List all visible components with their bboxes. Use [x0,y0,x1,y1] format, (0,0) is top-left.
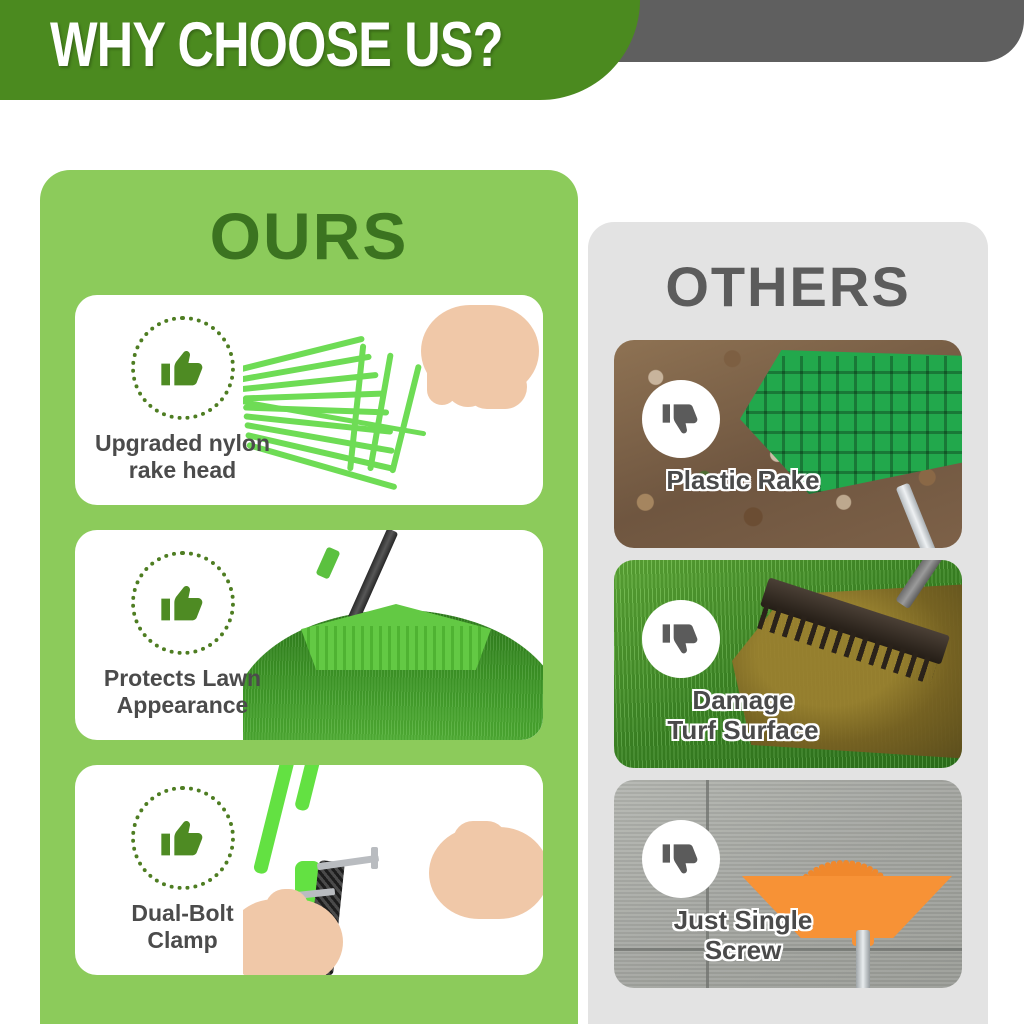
ours-feature-card-1: Upgraded nylon rake head [75,295,543,505]
ours-card-2-label-line1: Protects Lawn [104,665,261,691]
ours-panel-title: OURS [40,198,578,274]
thumbs-down-icon [642,600,720,678]
ours-card-3-label: Dual-Bolt Clamp [83,900,283,954]
thumbs-up-icon [131,786,235,890]
others-card-3-label-line2: Screw [705,935,782,965]
ours-card-3-label-line2: Clamp [147,927,217,953]
others-card-2-label: Damage Turf Surface [628,686,858,746]
ours-panel: OURS [40,170,578,1024]
page-header: WHY CHOOSE US? [0,0,1024,110]
ours-card-2-label: Protects Lawn Appearance [83,665,283,719]
ours-card-3-content: Dual-Bolt Clamp [75,765,290,975]
others-card-1: Plastic Rake [614,340,962,548]
thumbs-up-icon [131,316,235,420]
page-title: WHY CHOOSE US? [50,14,503,77]
others-card-1-label: Plastic Rake [628,466,858,496]
thumbs-up-icon [131,551,235,655]
ours-feature-card-2: Protects Lawn Appearance [75,530,543,740]
others-panel: OTHERS Plastic Rake [588,222,988,1024]
thumbs-down-icon [642,380,720,458]
ours-feature-card-3: Dual-Bolt Clamp [75,765,543,975]
others-card-3-label: Just Single Screw [628,906,858,966]
ours-card-1-label-line1: Upgraded nylon [95,430,270,456]
others-card-3: Just Single Screw [614,780,962,988]
hex-key-upper-arm [371,847,378,869]
others-card-2: Damage Turf Surface [614,560,962,768]
thumbs-down-icon [642,820,720,898]
ours-card-2-label-line2: Appearance [117,692,249,718]
others-card-2-label-line1: Damage [692,685,793,715]
others-panel-title: OTHERS [588,254,988,319]
infographic-root: WHY CHOOSE US? OURS [0,0,1024,1024]
others-card-2-label-line2: Turf Surface [667,715,818,745]
metal-pole [856,930,870,988]
ours-card-2-content: Protects Lawn Appearance [75,530,290,740]
ours-card-1-label-line2: rake head [129,457,236,483]
header-gray-shape [600,0,1024,62]
others-card-1-label-line1: Plastic Rake [666,465,819,495]
ours-card-1-content: Upgraded nylon rake head [75,295,290,505]
ours-card-3-label-line1: Dual-Bolt [131,900,233,926]
ours-card-1-label: Upgraded nylon rake head [83,430,283,484]
others-card-3-label-line1: Just Single [674,905,813,935]
